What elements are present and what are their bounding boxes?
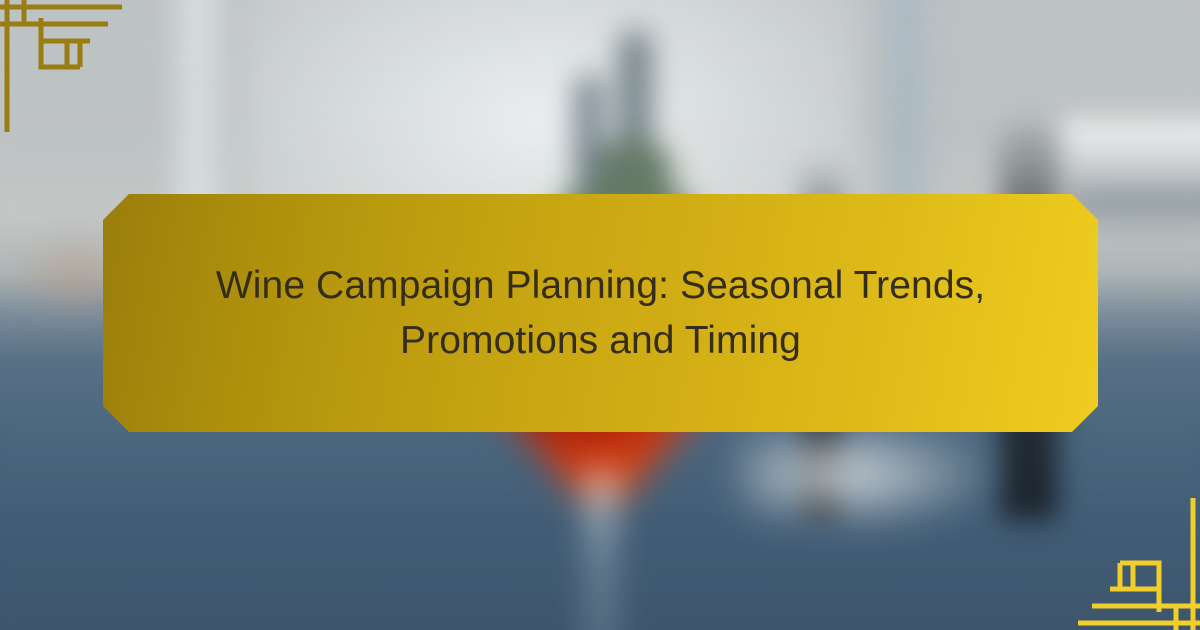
corner-ornament-bottom-right [1060, 490, 1200, 630]
page-title: Wine Campaign Planning: Seasonal Trends,… [175, 258, 1026, 369]
social-share-card: Wine Campaign Planning: Seasonal Trends,… [0, 0, 1200, 630]
greek-key-icon [1060, 490, 1200, 630]
greek-key-icon [0, 0, 140, 140]
title-banner: Wine Campaign Planning: Seasonal Trends,… [103, 194, 1098, 432]
corner-ornament-top-left [0, 0, 140, 140]
